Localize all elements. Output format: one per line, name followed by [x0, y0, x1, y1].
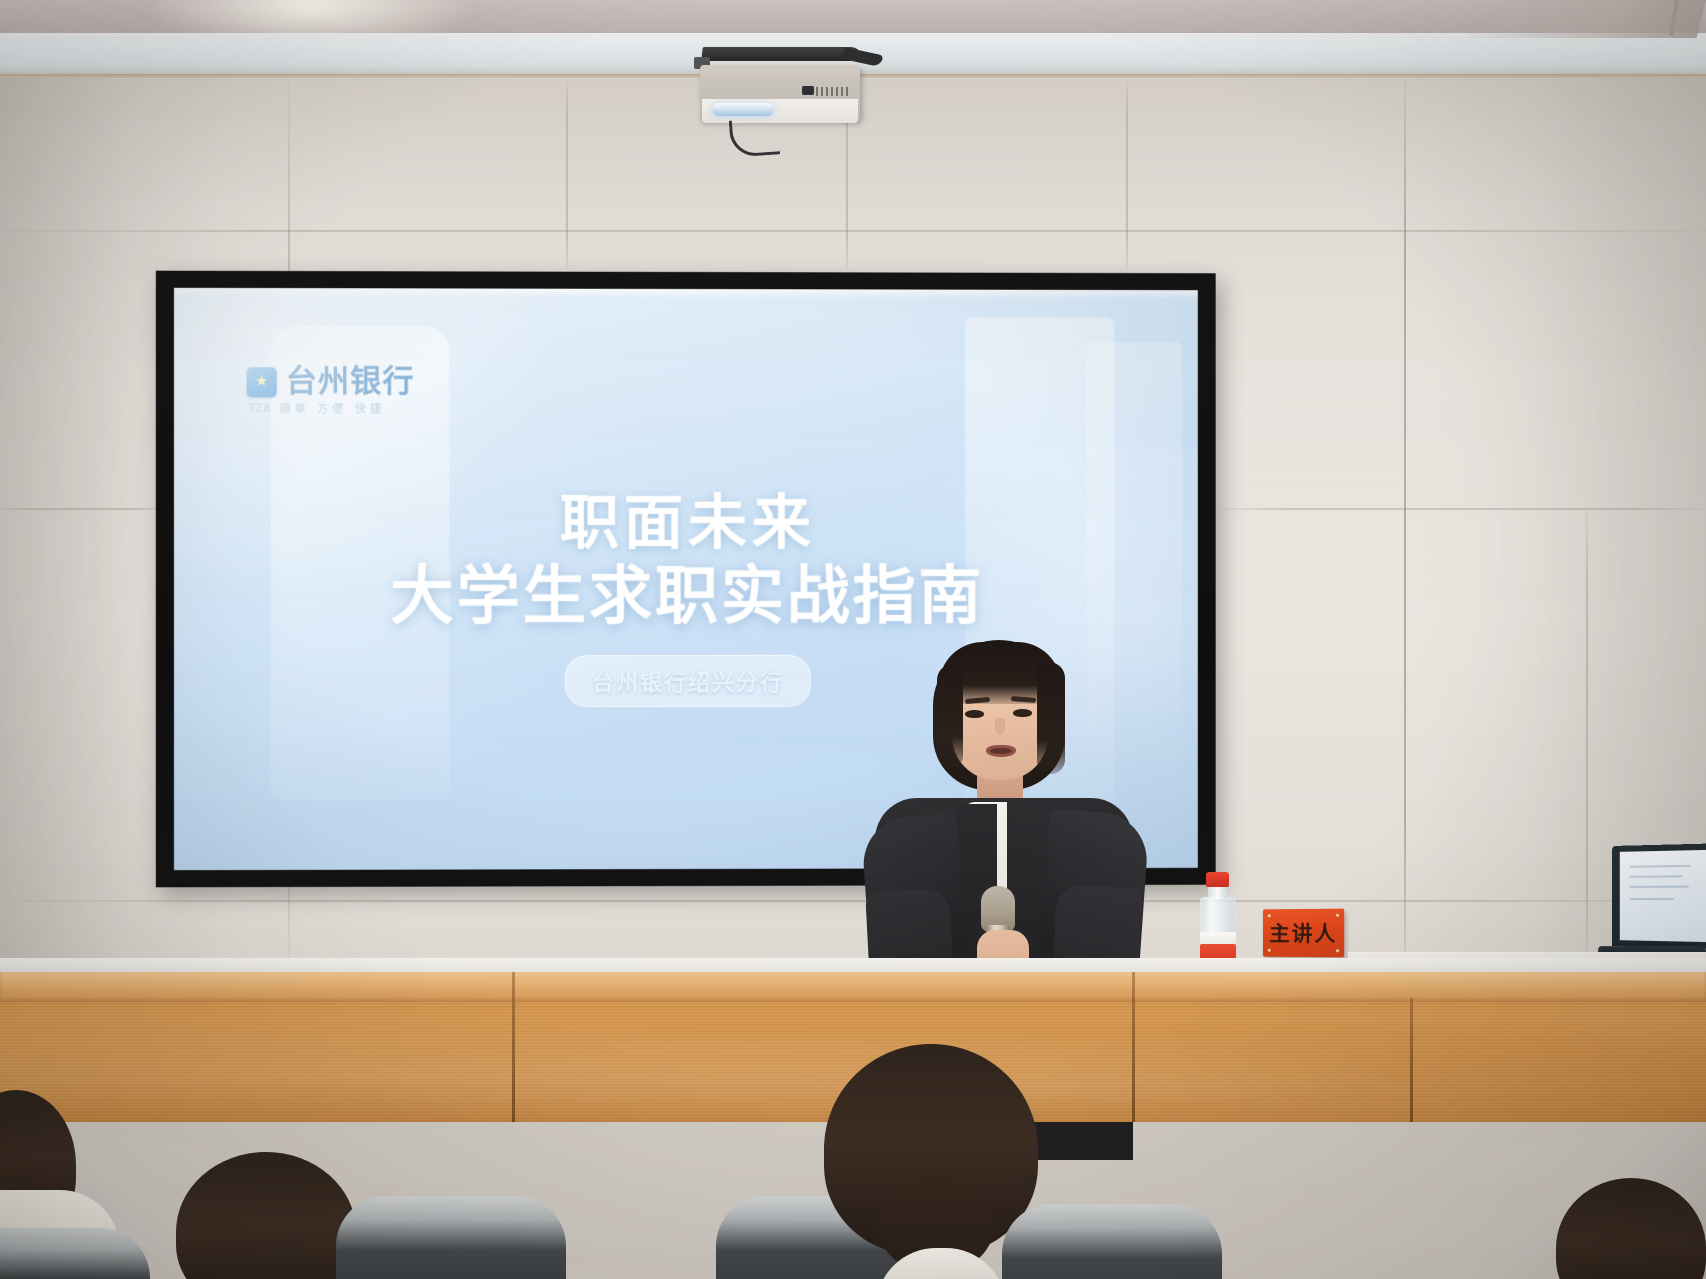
wall-seam	[0, 230, 1706, 232]
laptop-screen-line	[1630, 886, 1689, 888]
wall-baseboard-seam	[0, 900, 1706, 902]
sign-screw	[1336, 949, 1339, 952]
slide-logo-tagline: 简单 方便 快捷	[280, 400, 386, 416]
audience-seat	[0, 1228, 150, 1279]
laptop-screen-line	[1630, 898, 1674, 900]
water-bottle-neck	[1208, 886, 1227, 899]
sign-screw	[1268, 949, 1271, 952]
screen-top-highlight	[174, 288, 1198, 300]
presenter-eye-right	[1013, 709, 1032, 717]
presenter-lapel-pin-icon	[1035, 902, 1046, 913]
audience-seat	[336, 1196, 566, 1279]
audience-seat	[1002, 1204, 1222, 1279]
wall-shading-right	[1406, 78, 1706, 968]
projector-vents	[816, 87, 850, 96]
stage-panel-seam	[1132, 972, 1135, 1122]
slide-logo: 台州银行 TZB 简单 方便 快捷	[247, 366, 415, 416]
wall-seam	[1404, 80, 1406, 968]
sign-screw	[1268, 914, 1271, 917]
presenter-laptop[interactable]	[1598, 846, 1706, 966]
laptop-screen-line	[1630, 875, 1683, 878]
projector-lens-icon	[712, 103, 774, 116]
presenter-eye-left	[965, 710, 984, 718]
wall-seam	[566, 80, 568, 270]
stage-panel-seam	[512, 972, 515, 1122]
presenter-hair-side-left	[937, 664, 963, 768]
slide-subtitle-badge: 台州银行绍兴分行	[565, 655, 811, 707]
wall-seam	[1218, 508, 1706, 510]
speaker-sign-text: 主讲人	[1269, 918, 1337, 948]
slide-logo-tagline-row: TZB 简单 方便 快捷	[247, 400, 415, 416]
wall-seam	[0, 508, 160, 510]
ceiling-projector	[694, 55, 866, 147]
conference-room-scene: 台州银行 TZB 简单 方便 快捷 职面未来 大学生求职实战指南 台州银行绍兴分…	[0, 0, 1706, 1279]
laptop-lid	[1612, 844, 1706, 949]
laptop-screen-line	[1630, 865, 1691, 868]
stage-panel-seam	[1410, 998, 1413, 1122]
water-bottle-cap	[1206, 872, 1229, 887]
audience-head	[1556, 1178, 1706, 1279]
projector-mount-plate	[701, 47, 862, 61]
speaker-name-sign: 主讲人	[1263, 909, 1344, 958]
projector-body	[700, 65, 860, 121]
laptop-screen	[1620, 850, 1706, 942]
wall-seam	[1586, 508, 1588, 968]
projector-ir-sensor	[802, 86, 814, 95]
projector-front-panel	[702, 99, 858, 123]
slide-title-line-2: 大学生求职实战指南	[174, 545, 1198, 636]
slide-logo-tagline-mark: TZB	[249, 403, 272, 414]
sign-screw	[1336, 914, 1339, 917]
slide-logo-row: 台州银行	[247, 366, 415, 397]
slide-logo-brand: 台州银行	[286, 366, 415, 397]
presenter-hair-side-right	[1037, 662, 1065, 774]
bank-logo-icon	[247, 367, 277, 397]
presenter-mouth-inner	[990, 748, 1012, 754]
stage-top-cap	[0, 972, 1706, 1002]
audience-head	[176, 1152, 356, 1279]
wall-seam	[1126, 80, 1128, 270]
presenter-nose	[995, 718, 1005, 734]
